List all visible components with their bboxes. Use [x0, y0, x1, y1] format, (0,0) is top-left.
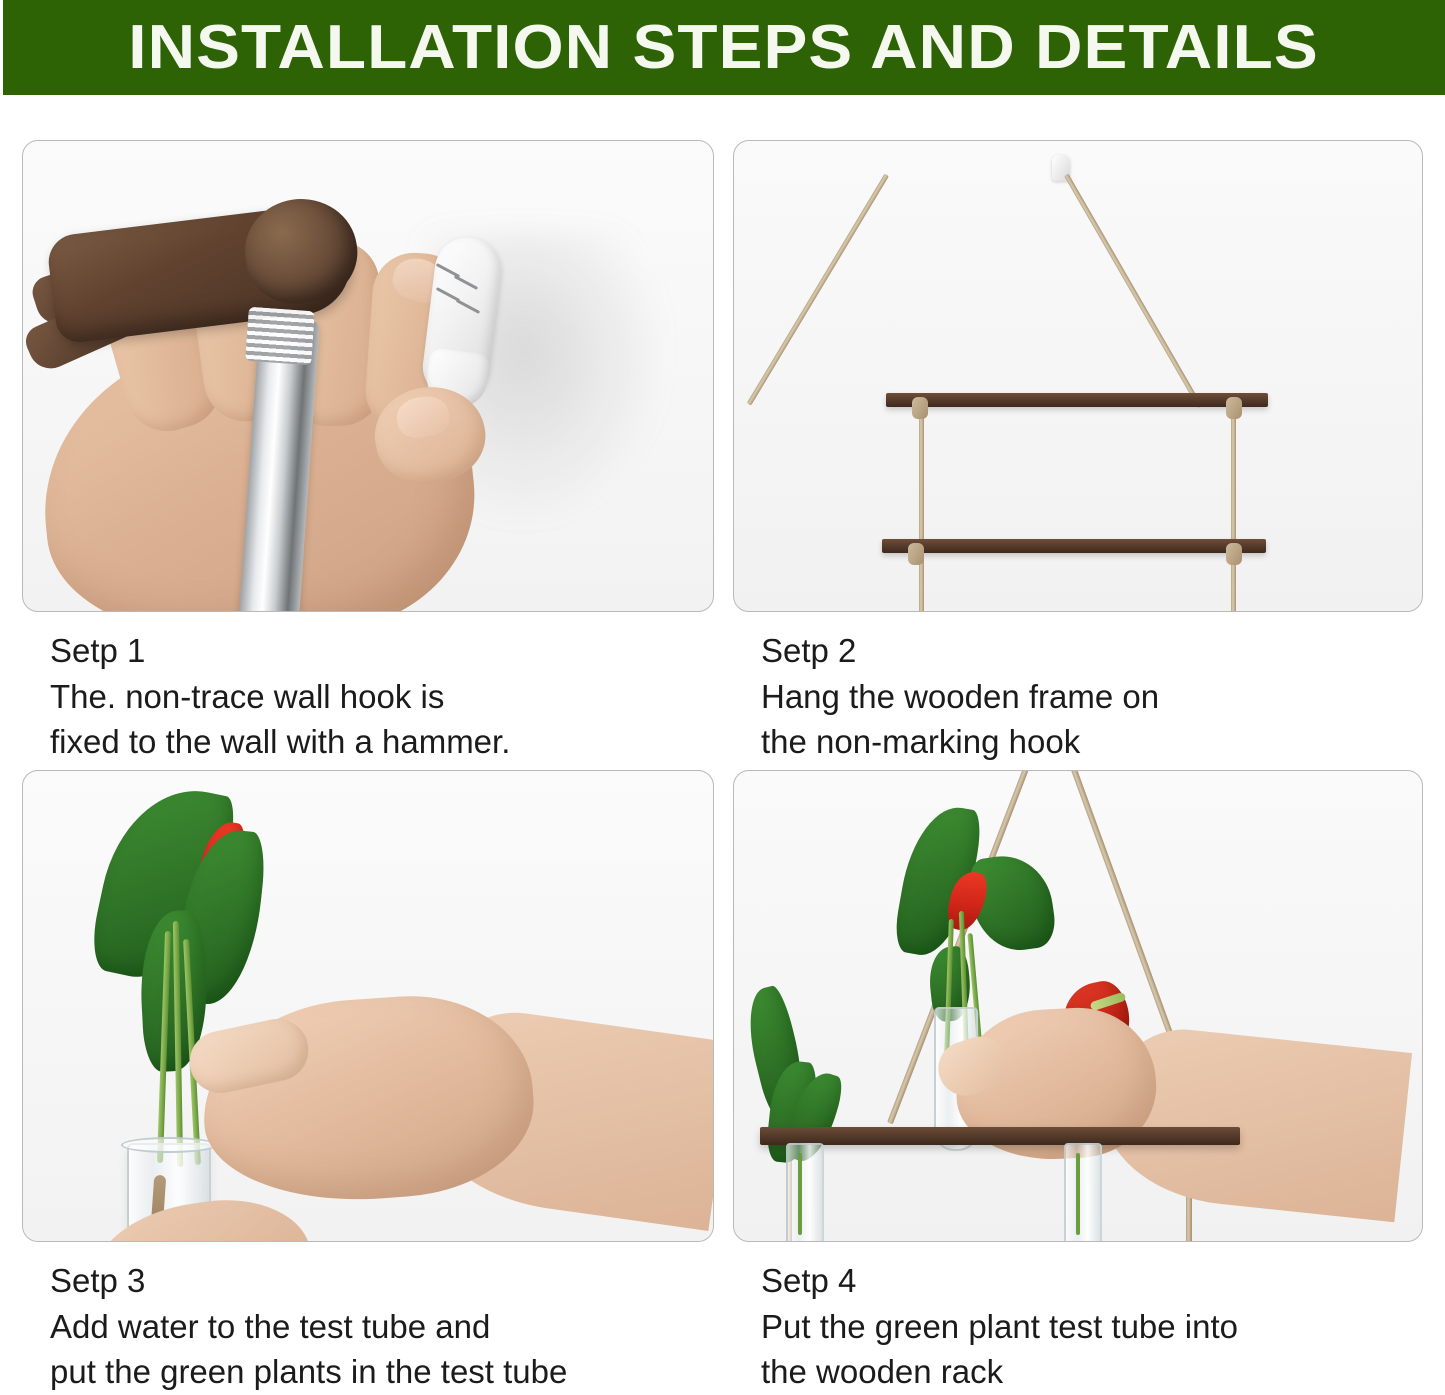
step-card-2: Setp 2 Hang the wooden frame on the non-…	[733, 140, 1423, 765]
step-2-caption: Setp 2 Hang the wooden frame on the non-…	[733, 612, 1423, 765]
step-4-photo	[733, 770, 1423, 1242]
rope-knot-icon	[912, 397, 928, 419]
test-tube-rim	[121, 1137, 217, 1153]
step-4-label: Setp 4	[761, 1258, 1423, 1304]
test-tube-icon	[786, 1143, 824, 1242]
rope-left	[747, 173, 889, 405]
plant-stem	[1076, 1153, 1080, 1235]
steps-grid: Setp 1 The. non-trace wall hook is fixed…	[0, 95, 1445, 1389]
wooden-shelf-top	[886, 393, 1268, 407]
step-3-caption: Setp 3 Add water to the test tube and pu…	[22, 1242, 714, 1395]
plant-stem	[798, 1153, 802, 1235]
hammer-ferrule-icon	[245, 307, 315, 365]
step-4-line2: the wooden rack	[761, 1349, 1423, 1395]
step-card-1: Setp 1 The. non-trace wall hook is fixed…	[22, 140, 714, 765]
header-banner: INSTALLATION STEPS AND DETAILS	[3, 0, 1445, 95]
page-title: INSTALLATION STEPS AND DETAILS	[129, 12, 1319, 83]
step-4-line1: Put the green plant test tube into	[761, 1304, 1423, 1350]
rope-knot-icon	[1226, 543, 1242, 565]
wooden-shelf	[760, 1127, 1240, 1145]
step-3-photo	[22, 770, 714, 1242]
wooden-shelf-bottom	[882, 539, 1266, 553]
rope-vertical-left	[919, 401, 924, 612]
step-2-photo	[733, 140, 1423, 612]
step-1-line2: fixed to the wall with a hammer.	[50, 719, 714, 765]
step-2-line1: Hang the wooden frame on	[761, 674, 1423, 720]
rope-vertical-right	[1231, 401, 1236, 612]
step-1-label: Setp 1	[50, 628, 714, 674]
rope-knot-icon	[1226, 397, 1242, 419]
step-2-line2: the non-marking hook	[761, 719, 1423, 765]
test-tube-icon	[1064, 1143, 1102, 1242]
step-4-caption: Setp 4 Put the green plant test tube int…	[733, 1242, 1423, 1395]
rope-knot-icon	[908, 543, 924, 565]
rope-right	[1064, 174, 1202, 409]
step-1-line1: The. non-trace wall hook is	[50, 674, 714, 720]
step-1-caption: Setp 1 The. non-trace wall hook is fixed…	[22, 612, 714, 765]
step-card-3: Setp 3 Add water to the test tube and pu…	[22, 770, 714, 1395]
step-3-line2: put the green plants in the test tube	[50, 1349, 714, 1395]
step-card-4: Setp 4 Put the green plant test tube int…	[733, 770, 1423, 1395]
step-3-line1: Add water to the test tube and	[50, 1304, 714, 1350]
step-2-label: Setp 2	[761, 628, 1423, 674]
step-1-photo	[22, 140, 714, 612]
step-3-label: Setp 3	[50, 1258, 714, 1304]
